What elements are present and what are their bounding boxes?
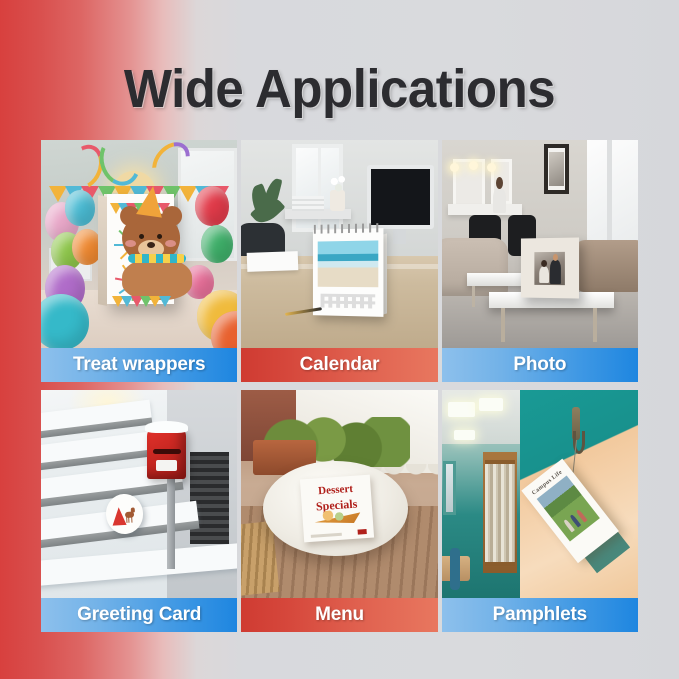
- application-card-greeting-card[interactable]: Greeting Card: [41, 390, 237, 632]
- application-card-treat-wrappers[interactable]: Treat wrappers: [41, 140, 237, 382]
- salon-counter: [448, 204, 523, 214]
- monitor-icon: [367, 165, 434, 229]
- menu-title-line1: Dessert: [301, 483, 371, 499]
- mailbox-icon: [147, 427, 186, 479]
- reindeer-leg: [126, 517, 127, 523]
- desk-calendar-icon: [312, 229, 383, 316]
- bulb-icon: [487, 163, 496, 172]
- pamphlet-wall: Campus Life: [520, 390, 638, 598]
- bear-collar: [128, 254, 186, 263]
- pie-topping-detail: [318, 509, 354, 524]
- sofa-icon: [575, 240, 638, 292]
- photo-frame-icon: [521, 237, 579, 298]
- ceiling-light-icon: [454, 430, 474, 440]
- calendar-spiral-binding: [314, 224, 381, 235]
- card-label-text: Greeting Card: [77, 604, 201, 627]
- paper-sheet-shape: [247, 251, 299, 271]
- scene-library-wall: Campus Life: [442, 390, 638, 598]
- application-card-photo[interactable]: Photo: [442, 140, 638, 382]
- page-title: Wide Applications: [124, 60, 555, 117]
- card-label-bar-pamphlets[interactable]: Pamphlets: [442, 598, 638, 632]
- bookshelf-icon: [483, 452, 518, 573]
- library-window: [443, 461, 456, 515]
- photo-treat-wrappers: [41, 140, 237, 348]
- flowers-shape: [328, 173, 350, 194]
- bag-side-panel: [98, 195, 107, 306]
- balloon-shape: [195, 186, 229, 226]
- calendar-date-grid: [320, 294, 375, 309]
- stylist-figure: [550, 260, 561, 284]
- reindeer-print-icon: [123, 504, 136, 523]
- card-label-text: Menu: [315, 604, 364, 627]
- card-label-text: Pamphlets: [493, 604, 587, 627]
- card-label-bar-greeting-card[interactable]: Greeting Card: [41, 598, 237, 632]
- reindeer-leg: [128, 517, 129, 523]
- table-leg: [501, 308, 505, 341]
- scene-hair-salon: [442, 140, 638, 348]
- party-hat-icon: [136, 184, 166, 217]
- teddy-bear-print-icon: [122, 212, 160, 300]
- bear-cheek: [165, 240, 176, 247]
- bulb-icon: [450, 163, 459, 172]
- library-chair: [450, 548, 461, 590]
- monitor-stand: [393, 229, 407, 244]
- reindeer-leg: [131, 517, 132, 523]
- scene-snowy-steps: [41, 390, 237, 598]
- photo-pamphlets: Campus Life: [442, 390, 638, 598]
- bear-eye: [139, 234, 144, 239]
- card-label-text: Treat wrappers: [73, 354, 205, 377]
- application-card-calendar[interactable]: Calendar: [241, 140, 437, 382]
- scene-birthday-party: [41, 140, 237, 348]
- metal-grate-shape: [190, 452, 229, 544]
- card-label-bar-calendar[interactable]: Calendar: [241, 348, 437, 382]
- wall-hook-icon: [572, 407, 580, 440]
- wall-art-image: [549, 152, 563, 186]
- name-plate: [156, 460, 176, 471]
- books-row: [485, 460, 515, 566]
- calendar-front-face: [313, 229, 383, 318]
- photo-photo-frame: [442, 140, 638, 348]
- client-figure: [539, 266, 549, 283]
- ceiling-light-icon: [448, 402, 475, 417]
- applications-grid: Treat wrappers: [41, 140, 638, 632]
- card-label-bar-photo[interactable]: Photo: [442, 348, 638, 382]
- reindeer-head: [130, 507, 135, 513]
- mail-slot: [153, 449, 181, 454]
- photo-calendar: [241, 140, 437, 348]
- application-card-menu[interactable]: Dessert Specials Menu: [241, 390, 437, 632]
- menu-footer-rule: [311, 533, 343, 538]
- snow-cap: [145, 421, 187, 432]
- round-table-shape: Dessert Specials: [263, 461, 408, 557]
- bear-body: [122, 258, 192, 300]
- card-label-bar-treat-wrappers[interactable]: Treat wrappers: [41, 348, 237, 382]
- scene-cafe-patio: Dessert Specials: [241, 390, 437, 598]
- bulb-icon: [469, 161, 478, 170]
- menu-logo-mark: [357, 529, 367, 535]
- card-label-bar-menu[interactable]: Menu: [241, 598, 437, 632]
- photo-greeting-card: [41, 390, 237, 598]
- bear-cheek: [125, 240, 136, 247]
- bear-eye: [157, 234, 162, 239]
- card-label-text: Calendar: [300, 354, 380, 377]
- treat-bag-shape: [104, 194, 175, 304]
- menu-sheet-icon: Dessert Specials: [300, 475, 374, 543]
- framed-photo-image: [534, 251, 565, 284]
- library-interior: [442, 390, 521, 598]
- calendar-beach-photo: [318, 241, 378, 287]
- card-label-text: Photo: [513, 354, 566, 377]
- page-header: Wide Applications: [0, 62, 679, 116]
- ceiling-light-icon: [479, 398, 503, 410]
- table-leg: [472, 286, 475, 307]
- bear-nose: [147, 242, 155, 248]
- wall-art-frame: [544, 144, 570, 194]
- balloon-shape: [65, 190, 95, 226]
- paper-stack-shape: [292, 196, 323, 211]
- scene-office-desk: [241, 140, 437, 348]
- stylist-figure: [493, 188, 507, 213]
- bear-ear: [162, 206, 182, 226]
- application-card-pamphlets[interactable]: Campus Life Pamphlets: [442, 390, 638, 632]
- mailbox-post: [167, 469, 175, 569]
- table-leg: [593, 308, 597, 341]
- photo-menu: Dessert Specials: [241, 390, 437, 598]
